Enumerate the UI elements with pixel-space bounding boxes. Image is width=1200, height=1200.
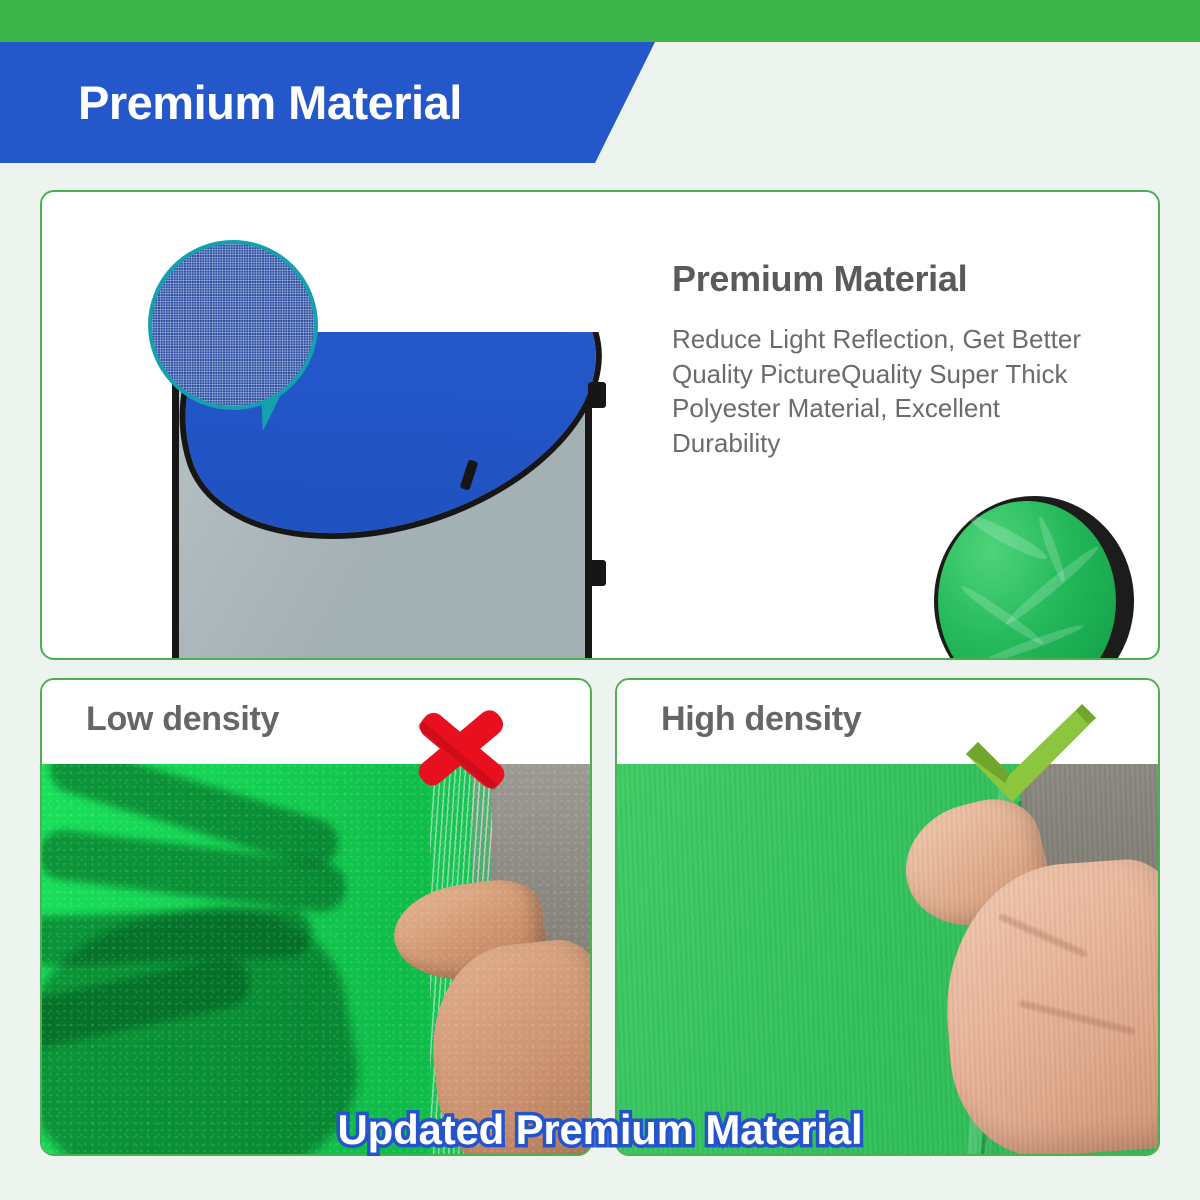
product-backdrop-illustration bbox=[120, 212, 620, 660]
header-banner: Premium Material bbox=[0, 42, 655, 163]
fabric-weave-magnifier-icon bbox=[148, 240, 318, 410]
high-density-label: High density bbox=[661, 700, 861, 739]
high-density-photo bbox=[617, 764, 1158, 1154]
premium-material-card: Premium Material Reduce Light Reflection… bbox=[40, 190, 1160, 660]
page-title: Premium Material bbox=[78, 75, 462, 130]
footer-title: Updated Premium Material bbox=[0, 1106, 1200, 1154]
low-density-photo bbox=[42, 764, 590, 1154]
low-density-label: Low density bbox=[86, 700, 279, 739]
red-x-icon bbox=[400, 700, 520, 800]
green-check-icon bbox=[958, 698, 1103, 803]
info-title: Premium Material bbox=[672, 258, 1102, 300]
green-folded-backdrop-pouch bbox=[922, 490, 1138, 660]
fabric-texture-overlay bbox=[42, 764, 590, 1154]
top-accent-stripe bbox=[0, 0, 1200, 42]
info-body-text: Reduce Light Reflection, Get Better Qual… bbox=[672, 322, 1102, 460]
info-column: Premium Material Reduce Light Reflection… bbox=[672, 258, 1102, 460]
frame-clip-tab bbox=[588, 560, 606, 586]
frame-clip-tab bbox=[588, 382, 606, 408]
fabric-texture-overlay bbox=[617, 764, 1158, 1154]
